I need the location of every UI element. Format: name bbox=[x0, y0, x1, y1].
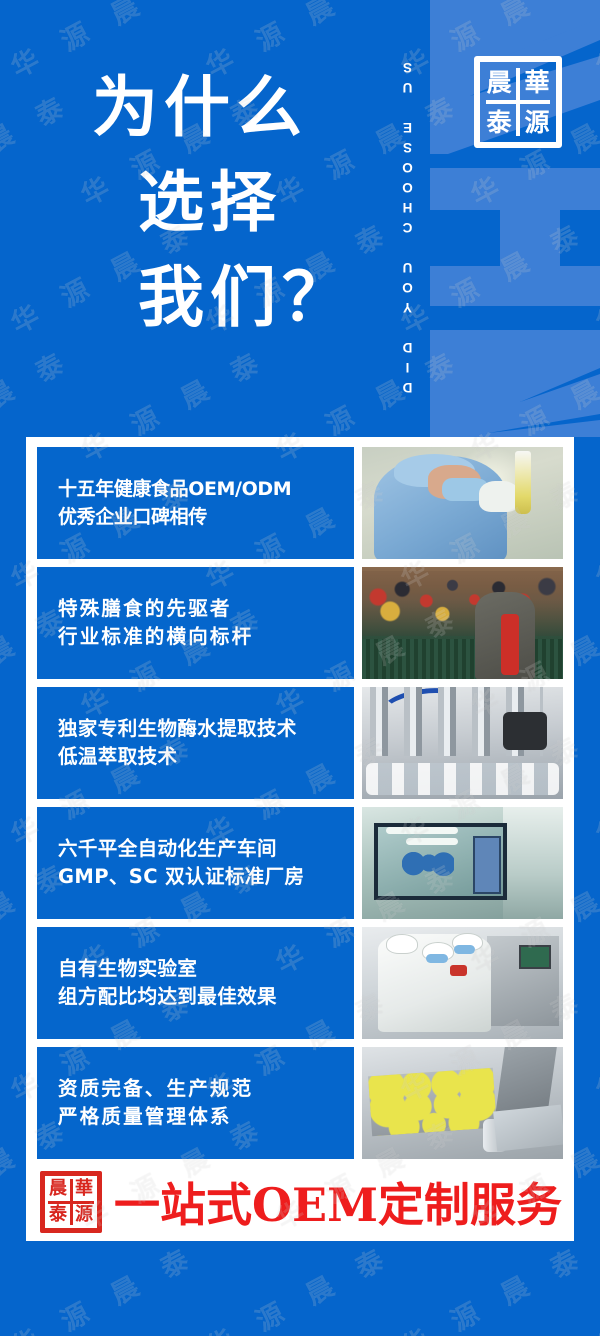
seal-glyph-4: 源 bbox=[75, 1206, 93, 1224]
watermark-text: 华 源 晨 泰 bbox=[588, 978, 600, 1109]
photo-shape bbox=[473, 836, 501, 894]
title-line-2: 选择 bbox=[92, 155, 392, 250]
reason-line-b: 行业标准的横向标杆 bbox=[58, 623, 354, 651]
conference-audience-photo bbox=[362, 567, 563, 679]
photo-shape bbox=[501, 614, 519, 674]
reason-line-b: 优秀企业口碑相传 bbox=[58, 503, 354, 531]
reason-line-b: GMP、SC 双认证标准厂房 bbox=[58, 863, 354, 891]
photo-surface bbox=[362, 1047, 563, 1159]
reason-text-1: 十五年健康食品OEM/ODM 优秀企业口碑相传 bbox=[37, 447, 354, 559]
photo-shape bbox=[503, 712, 547, 750]
reason-text-2: 特殊膳食的先驱者 行业标准的横向标杆 bbox=[37, 567, 354, 679]
reason-text-6: 资质完备、生产规范 严格质量管理体系 bbox=[37, 1047, 354, 1159]
photo-surface bbox=[362, 447, 563, 559]
watermark-text: 华 源 晨 泰 bbox=[198, 1234, 398, 1336]
list-item: 六千平全自动化生产车间 GMP、SC 双认证标准厂房 bbox=[37, 807, 563, 919]
seal-glyph-3: 泰 bbox=[49, 1206, 67, 1224]
watermark-text: 华 源 晨 泰 bbox=[0, 722, 8, 853]
watermark-text: 华 源 晨 泰 bbox=[0, 466, 8, 597]
watermark-text: 华 源 晨 泰 bbox=[0, 978, 8, 1109]
production-staff-photo bbox=[362, 927, 563, 1039]
photo-shape bbox=[368, 1067, 497, 1136]
seal-glyph-3: 泰 bbox=[486, 110, 511, 135]
watermark-text: 华 源 晨 泰 bbox=[0, 1234, 8, 1336]
list-item: 资质完备、生产规范 严格质量管理体系 bbox=[37, 1047, 563, 1159]
photo-shape bbox=[386, 934, 418, 954]
reason-line-b: 严格质量管理体系 bbox=[58, 1103, 354, 1131]
photo-shape bbox=[519, 945, 551, 969]
photo-shape bbox=[406, 838, 458, 845]
reason-text-4: 六千平全自动化生产车间 GMP、SC 双认证标准厂房 bbox=[37, 807, 354, 919]
banner-headline: 一站式OEM定制服务 bbox=[102, 1169, 568, 1235]
brand-seal-white: 晨 華 泰 源 bbox=[474, 56, 562, 148]
watermark-text: 华 源 晨 泰 bbox=[3, 1234, 203, 1336]
photo-shape bbox=[366, 763, 559, 794]
blister-packaging-photo bbox=[362, 1047, 563, 1159]
photo-shape bbox=[493, 1104, 563, 1151]
seal-glyph-1: 晨 bbox=[486, 70, 511, 95]
photo-shape bbox=[515, 451, 531, 514]
list-item: 自有生物实验室 组方配比均达到最佳效果 bbox=[37, 927, 563, 1039]
page-title: 为什么 选择 我们？ bbox=[92, 60, 392, 345]
seal-glyph-2: 華 bbox=[75, 1180, 93, 1198]
photo-shape bbox=[402, 852, 454, 881]
filling-line-photo bbox=[362, 687, 563, 799]
poster-header: 为什么 选择 我们？ DID YOU CHOOSE US 晨 華 泰 源 bbox=[0, 0, 600, 437]
vertical-english-caption: DID YOU CHOOSE US bbox=[400, 55, 415, 395]
reason-line-a: 独家专利生物酶水提取技术 bbox=[58, 715, 354, 743]
seal-glyph-2: 華 bbox=[524, 70, 549, 95]
brand-seal-red: 晨 華 泰 源 bbox=[40, 1171, 102, 1233]
reason-line-a: 六千平全自动化生产车间 bbox=[58, 835, 354, 863]
cleanroom-workshop-photo bbox=[362, 807, 563, 919]
seal-glyph-4: 源 bbox=[524, 110, 549, 135]
lab-technician-photo bbox=[362, 447, 563, 559]
photo-shape bbox=[386, 827, 458, 834]
list-item: 十五年健康食品OEM/ODM 优秀企业口碑相传 bbox=[37, 447, 563, 559]
watermark-text: 华 源 晨 泰 bbox=[588, 722, 600, 853]
seal-glyph-1: 晨 bbox=[49, 1180, 67, 1198]
title-line-1: 为什么 bbox=[92, 60, 392, 155]
photo-shape bbox=[450, 965, 466, 976]
photo-shape bbox=[503, 807, 563, 919]
reasons-list: 十五年健康食品OEM/ODM 优秀企业口碑相传 特殊膳食的 bbox=[37, 447, 563, 1159]
reason-line-b: 低温萃取技术 bbox=[58, 743, 354, 771]
reason-line-a: 资质完备、生产规范 bbox=[58, 1075, 354, 1103]
photo-shape bbox=[426, 954, 448, 963]
title-line-3: 我们？ bbox=[92, 250, 392, 345]
reason-text-5: 自有生物实验室 组方配比均达到最佳效果 bbox=[37, 927, 354, 1039]
photo-surface bbox=[362, 687, 563, 799]
promo-poster: 为什么 选择 我们？ DID YOU CHOOSE US 晨 華 泰 源 十五年… bbox=[0, 0, 600, 1336]
photo-surface bbox=[362, 567, 563, 679]
list-item: 特殊膳食的先驱者 行业标准的横向标杆 bbox=[37, 567, 563, 679]
list-item: 独家专利生物酶水提取技术 低温萃取技术 bbox=[37, 687, 563, 799]
reason-line-b: 组方配比均达到最佳效果 bbox=[58, 983, 354, 1011]
watermark-text: 华 源 晨 泰 bbox=[393, 1234, 593, 1336]
bottom-banner: 晨 華 泰 源 一站式OEM定制服务 bbox=[26, 1163, 574, 1241]
reasons-card: 十五年健康食品OEM/ODM 优秀企业口碑相传 特殊膳食的 bbox=[26, 437, 574, 1163]
photo-shape bbox=[454, 945, 474, 954]
photo-surface bbox=[362, 807, 563, 919]
reason-line-a: 自有生物实验室 bbox=[58, 955, 354, 983]
watermark-text: 华 源 晨 泰 bbox=[588, 1234, 600, 1336]
photo-shape bbox=[479, 481, 519, 512]
reason-line-a: 十五年健康食品OEM/ODM bbox=[58, 475, 354, 503]
photo-surface bbox=[362, 927, 563, 1039]
reason-text-3: 独家专利生物酶水提取技术 低温萃取技术 bbox=[37, 687, 354, 799]
reason-line-a: 特殊膳食的先驱者 bbox=[58, 595, 354, 623]
watermark-text: 华 源 晨 泰 bbox=[588, 466, 600, 597]
